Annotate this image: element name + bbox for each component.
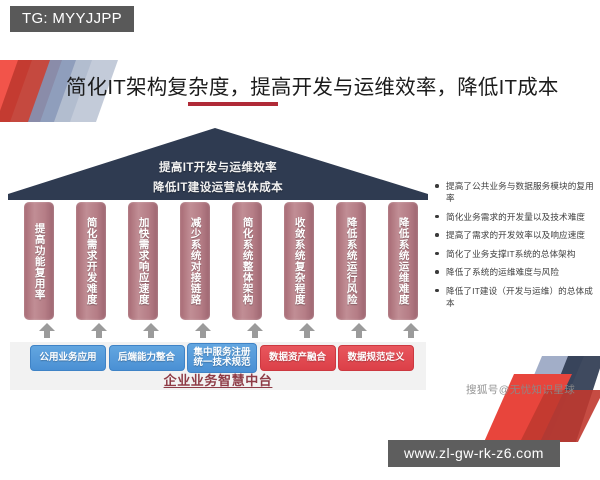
base-box-backend-capability[interactable]: 后端能力整合 xyxy=(109,345,185,371)
pillar-label: 简化系统整体架构 xyxy=(241,217,252,305)
footer-url-badge: www.zl-gw-rk-z6.com xyxy=(388,440,560,467)
list-item: 简化业务需求的开发量以及技术难度 xyxy=(434,211,594,223)
list-item-text: 提高了需求的开发效率以及响应速度 xyxy=(446,230,585,240)
base-box-data-asset-fusion[interactable]: 数据资产融合 xyxy=(260,345,336,371)
pillar-label: 减少系统对接链路 xyxy=(189,217,200,305)
pillar: 降低系统运行风险 xyxy=(336,202,366,320)
title-block: 简化IT架构复杂度，提高开发与运维效率，降低IT成本 xyxy=(66,70,586,100)
list-item: 降低了系统的运维难度与风险 xyxy=(434,266,594,278)
list-item: 简化了业务支撑IT系统的总体架构 xyxy=(434,248,594,260)
pillar-column[interactable]: 减少系统对接链路 xyxy=(177,202,213,340)
pillar-column[interactable]: 降低系统运行风险 xyxy=(333,202,369,340)
pillar-label: 简化需求开发难度 xyxy=(85,217,96,305)
pillar-column[interactable]: 降低系统运维难度 xyxy=(385,202,421,340)
list-item-text: 降低了IT建设（开发与运维）的总体成本 xyxy=(446,286,593,308)
pillar-label: 提高功能复用率 xyxy=(33,223,44,300)
base-box-group: 公用业务应用 后端能力整合 集中服务注册 统一技术规范 数据资产融合 数据规范定… xyxy=(30,347,414,369)
bullet-dot-icon xyxy=(435,270,439,274)
list-item: 降低了IT建设（开发与运维）的总体成本 xyxy=(434,285,594,310)
base-box-public-business-app[interactable]: 公用业务应用 xyxy=(30,345,106,371)
watermark-text: 搜狐号@无忧知识星球 xyxy=(466,382,575,397)
pillar: 简化系统整体架构 xyxy=(232,202,262,320)
bullet-dot-icon xyxy=(435,252,439,256)
pillar: 提高功能复用率 xyxy=(24,202,54,320)
pillar-column[interactable]: 简化系统整体架构 xyxy=(229,202,265,340)
pillar-label: 加快需求响应速度 xyxy=(137,217,148,305)
temple-roof: 提高IT开发与运维效率 降低IT建设运营总体成本 xyxy=(8,128,428,200)
title-underline-accent xyxy=(188,102,278,106)
pillar-label: 收敛系统复杂程度 xyxy=(293,217,304,305)
decorative-shape-bottom-right xyxy=(484,356,600,442)
list-item-text: 提高了公共业务与数据服务模块的复用率 xyxy=(446,181,594,203)
pillar-column[interactable]: 简化需求开发难度 xyxy=(73,202,109,340)
pillar: 收敛系统复杂程度 xyxy=(284,202,314,320)
slide-canvas: TG: MYYJJPP 简化IT架构复杂度，提高开发与运维效率，降低IT成本 提… xyxy=(0,0,600,480)
bullet-dot-icon xyxy=(435,233,439,237)
tg-badge: TG: MYYJJPP xyxy=(10,6,134,32)
base-box-line-2: 统一技术规范 xyxy=(193,358,250,368)
base-box-service-registry[interactable]: 集中服务注册 统一技术规范 xyxy=(187,343,257,373)
temple-base-panel: 公用业务应用 后端能力整合 集中服务注册 统一技术规范 数据资产融合 数据规范定… xyxy=(10,342,426,390)
pillar-column[interactable]: 提高功能复用率 xyxy=(21,202,57,340)
page-title: 简化IT架构复杂度，提高开发与运维效率，降低IT成本 xyxy=(66,70,586,100)
roof-line-1: 提高IT开发与运维效率 xyxy=(8,159,428,175)
pillar: 简化需求开发难度 xyxy=(76,202,106,320)
list-item: 提高了公共业务与数据服务模块的复用率 xyxy=(434,180,594,205)
pillar: 减少系统对接链路 xyxy=(180,202,210,320)
base-platform-label: 企业业务智慧中台 xyxy=(10,370,426,389)
benefit-bullet-list: 提高了公共业务与数据服务模块的复用率 简化业务需求的开发量以及技术难度 提高了需… xyxy=(434,180,594,316)
temple-diagram: 提高IT开发与运维效率 降低IT建设运营总体成本 提高功能复用率 简化需求开发难… xyxy=(8,128,428,390)
pillar: 加快需求响应速度 xyxy=(128,202,158,320)
bullet-dot-icon xyxy=(435,184,439,188)
pillar-column[interactable]: 加快需求响应速度 xyxy=(125,202,161,340)
pillar: 降低系统运维难度 xyxy=(388,202,418,320)
base-box-data-standard-definition[interactable]: 数据规范定义 xyxy=(338,345,414,371)
pillar-label: 降低系统运维难度 xyxy=(397,217,408,305)
list-item-text: 简化了业务支撑IT系统的总体架构 xyxy=(446,249,576,259)
pillar-column[interactable]: 收敛系统复杂程度 xyxy=(281,202,317,340)
bullet-dot-icon xyxy=(435,215,439,219)
list-item-text: 降低了系统的运维难度与风险 xyxy=(446,267,559,277)
bullet-dot-icon xyxy=(435,289,439,293)
pillar-group: 提高功能复用率 简化需求开发难度 加快需求响应速度 减少系统对接链路 xyxy=(21,202,421,340)
pillar-label: 降低系统运行风险 xyxy=(345,217,356,305)
list-item-text: 简化业务需求的开发量以及技术难度 xyxy=(446,212,585,222)
list-item: 提高了需求的开发效率以及响应速度 xyxy=(434,229,594,241)
roof-line-2: 降低IT建设运营总体成本 xyxy=(8,179,428,195)
